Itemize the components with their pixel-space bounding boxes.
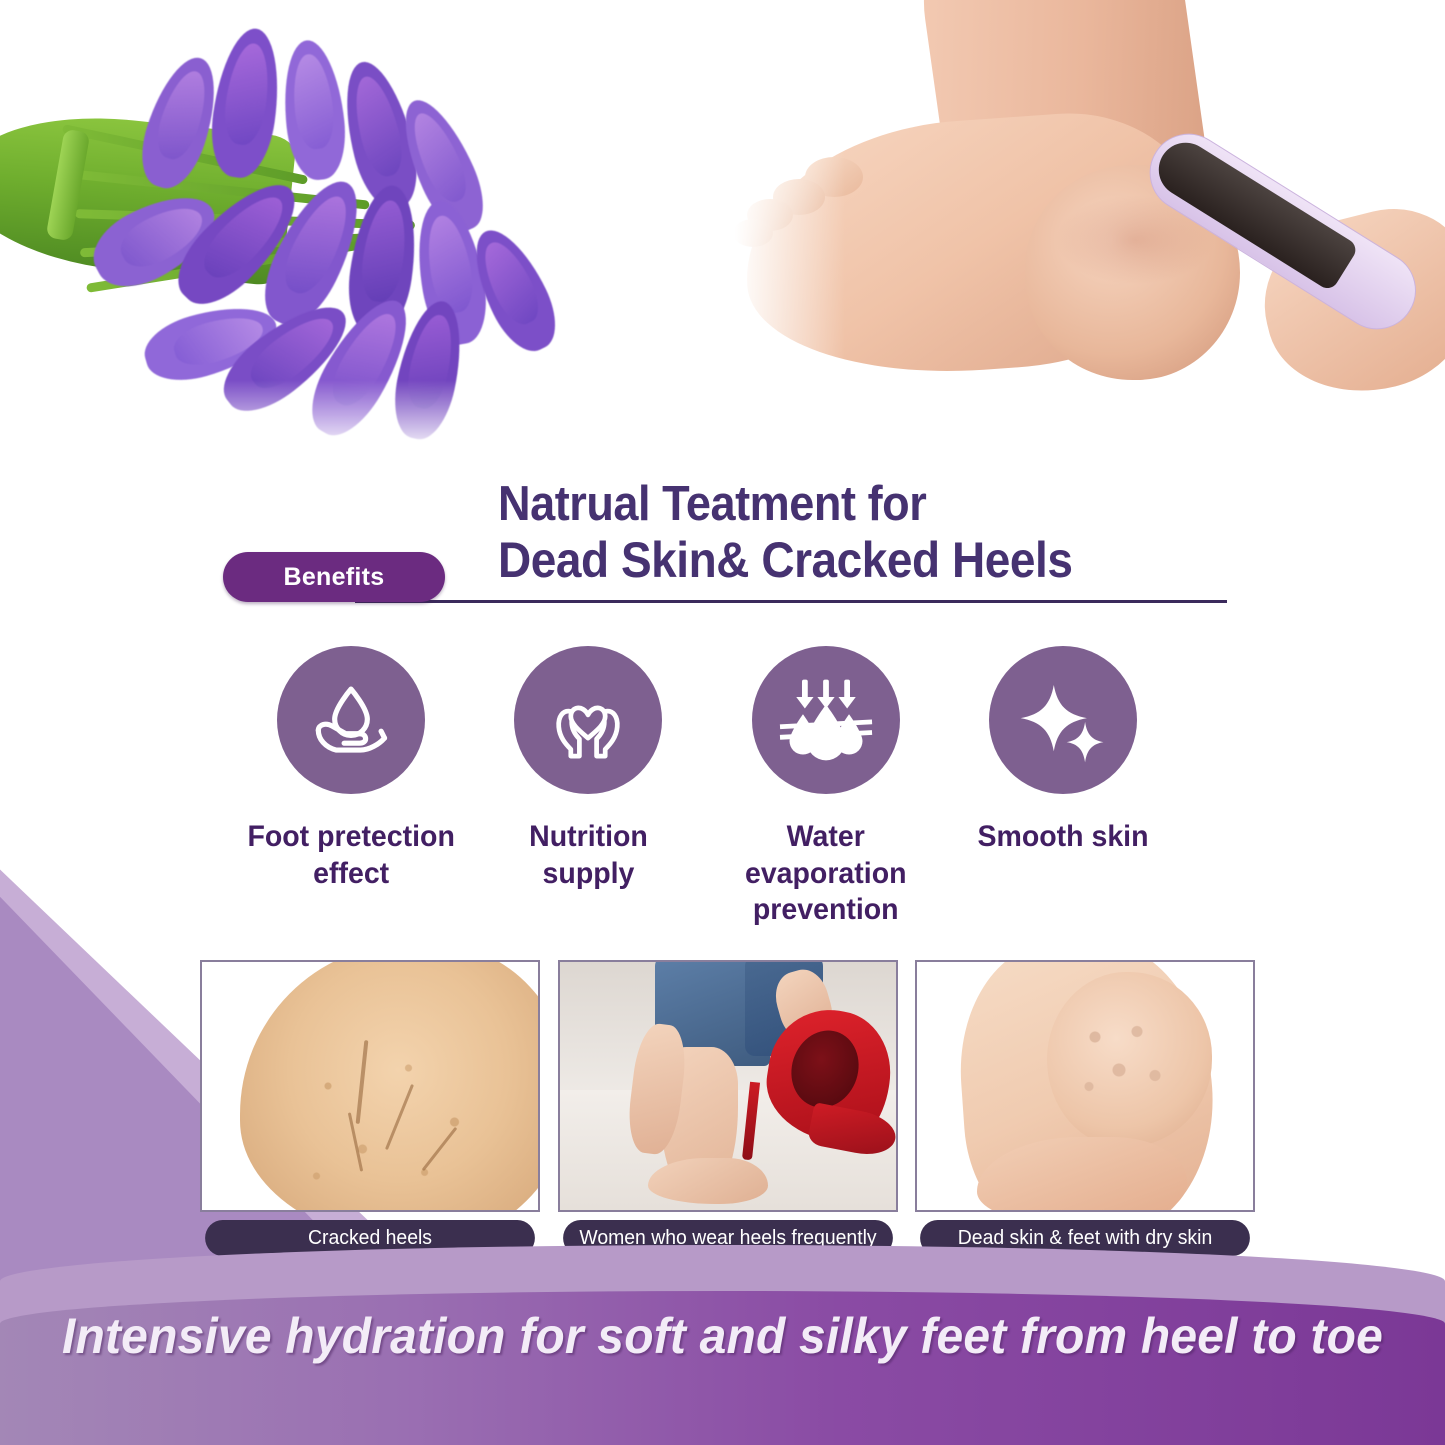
bare-foot bbox=[648, 1158, 768, 1204]
headline-line-1: Natrual Teatment for bbox=[498, 477, 1072, 532]
benefit-label: Water evaporation prevention bbox=[713, 819, 939, 929]
benefits-badge-label: Benefits bbox=[283, 563, 384, 592]
hand-droplet-icon bbox=[308, 677, 394, 763]
sparkles-icon bbox=[1017, 674, 1109, 766]
bottom-banner: Intensive hydration for soft and silky f… bbox=[0, 1245, 1445, 1445]
cracked-heel-closeup-photo bbox=[200, 960, 540, 1212]
banner-tagline: Intensive hydration for soft and silky f… bbox=[29, 1307, 1416, 1365]
benefits-list: Foot pretection effect Nutrition supply bbox=[232, 646, 1182, 936]
lavender-bouquet-photo bbox=[0, 0, 660, 470]
use-case-card: Dead skin & feet with dry skin bbox=[915, 960, 1255, 1280]
benefit-icon-circle bbox=[277, 646, 425, 794]
benefit-label: Nutrition supply bbox=[529, 819, 648, 892]
photo-fade-bottom bbox=[725, 390, 1445, 480]
use-case-card: Cracked heels bbox=[200, 960, 540, 1280]
woman-removing-red-heels-photo bbox=[558, 960, 898, 1212]
benefit-label: Smooth skin bbox=[978, 819, 1149, 856]
page-title: Natrual Teatment for Dead Skin& Cracked … bbox=[498, 477, 1072, 588]
photo-fade-bottom bbox=[0, 380, 660, 470]
use-case-card: Women who wear heels frequently bbox=[558, 960, 898, 1280]
benefit-item-water-evaporation: Water evaporation prevention bbox=[707, 646, 945, 936]
hands-heart-icon bbox=[545, 677, 631, 763]
dry-skin-texture bbox=[1065, 1004, 1185, 1114]
use-case-cards: Cracked heels Women who wear heels frequ… bbox=[200, 960, 1255, 1280]
dry-heel-side-view-photo bbox=[915, 960, 1255, 1212]
section-divider bbox=[355, 600, 1227, 603]
benefit-item-nutrition-supply: Nutrition supply bbox=[470, 646, 708, 936]
foot-file-pedicure-photo bbox=[725, 0, 1445, 480]
product-infographic: Natrual Teatment for Dead Skin& Cracked … bbox=[0, 0, 1445, 1445]
benefit-icon-circle bbox=[989, 646, 1137, 794]
benefit-item-smooth-skin: Smooth skin bbox=[945, 646, 1183, 936]
headline-line-2: Dead Skin& Cracked Heels bbox=[498, 532, 1072, 588]
benefits-badge: Benefits bbox=[223, 552, 445, 602]
benefit-icon-circle bbox=[514, 646, 662, 794]
benefit-item-foot-protection: Foot pretection effect bbox=[232, 646, 470, 936]
benefit-icon-circle bbox=[752, 646, 900, 794]
benefit-label: Foot pretection effect bbox=[247, 819, 454, 892]
droplets-arrows-icon bbox=[778, 672, 874, 768]
